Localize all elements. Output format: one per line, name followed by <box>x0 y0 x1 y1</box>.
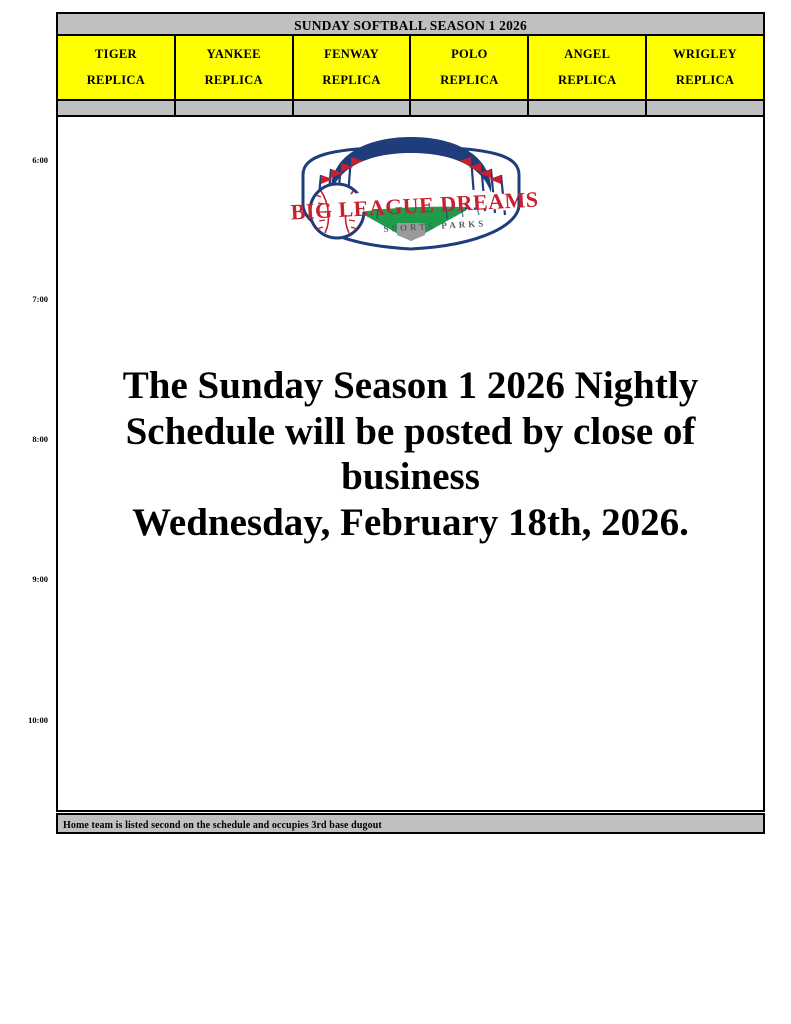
field-type-label: REPLICA <box>205 73 263 88</box>
time-label-8: 8:00 <box>32 434 48 444</box>
notice-line-4: Wednesday, February 18th, 2026. <box>78 500 743 546</box>
schedule-grid-body: BIG LEAGUE DREAMS SPORTS PARKS The Sunda… <box>56 117 765 812</box>
field-type-label: REPLICA <box>558 73 616 88</box>
spacer-cell-yankee <box>176 101 294 115</box>
schedule-sheet: SUNDAY SOFTBALL SEASON 1 2026 TIGER REPL… <box>56 12 765 834</box>
notice-line-3: business <box>78 454 743 500</box>
field-type-label: REPLICA <box>87 73 145 88</box>
notice-line-2: Schedule will be posted by close of <box>78 409 743 455</box>
time-label-7: 7:00 <box>32 294 48 304</box>
field-name-label: TIGER <box>95 47 137 62</box>
notice-line-1: The Sunday Season 1 2026 Nightly <box>78 363 743 409</box>
field-name-label: POLO <box>451 47 488 62</box>
field-column-polo[interactable]: POLO REPLICA <box>411 36 529 99</box>
field-name-label: YANKEE <box>207 47 261 62</box>
schedule-notice-message: The Sunday Season 1 2026 Nightly Schedul… <box>78 363 743 546</box>
field-type-label: REPLICA <box>676 73 734 88</box>
field-name-label: WRIGLEY <box>673 47 737 62</box>
time-label-10: 10:00 <box>28 715 48 725</box>
field-column-wrigley[interactable]: WRIGLEY REPLICA <box>647 36 763 99</box>
field-column-yankee[interactable]: YANKEE REPLICA <box>176 36 294 99</box>
time-label-6: 6:00 <box>32 155 48 165</box>
field-type-label: REPLICA <box>322 73 380 88</box>
time-label-9: 9:00 <box>32 574 48 584</box>
page-title: SUNDAY SOFTBALL SEASON 1 2026 <box>56 12 765 36</box>
field-header-row: TIGER REPLICA YANKEE REPLICA FENWAY REPL… <box>56 36 765 101</box>
footer-note: Home team is listed second on the schedu… <box>56 813 765 834</box>
spacer-cell-tiger <box>58 101 176 115</box>
time-axis-gutter: 6:00 7:00 8:00 9:00 10:00 <box>0 0 56 1024</box>
big-league-dreams-logo: BIG LEAGUE DREAMS SPORTS PARKS <box>285 119 537 254</box>
spacer-cell-fenway <box>294 101 412 115</box>
field-name-label: ANGEL <box>564 47 610 62</box>
field-column-angel[interactable]: ANGEL REPLICA <box>529 36 647 99</box>
field-column-tiger[interactable]: TIGER REPLICA <box>58 36 176 99</box>
spacer-cell-polo <box>411 101 529 115</box>
field-subheader-spacer-row <box>56 101 765 117</box>
field-name-label: FENWAY <box>324 47 379 62</box>
spacer-cell-angel <box>529 101 647 115</box>
field-column-fenway[interactable]: FENWAY REPLICA <box>294 36 412 99</box>
spacer-cell-wrigley <box>647 101 763 115</box>
field-type-label: REPLICA <box>440 73 498 88</box>
